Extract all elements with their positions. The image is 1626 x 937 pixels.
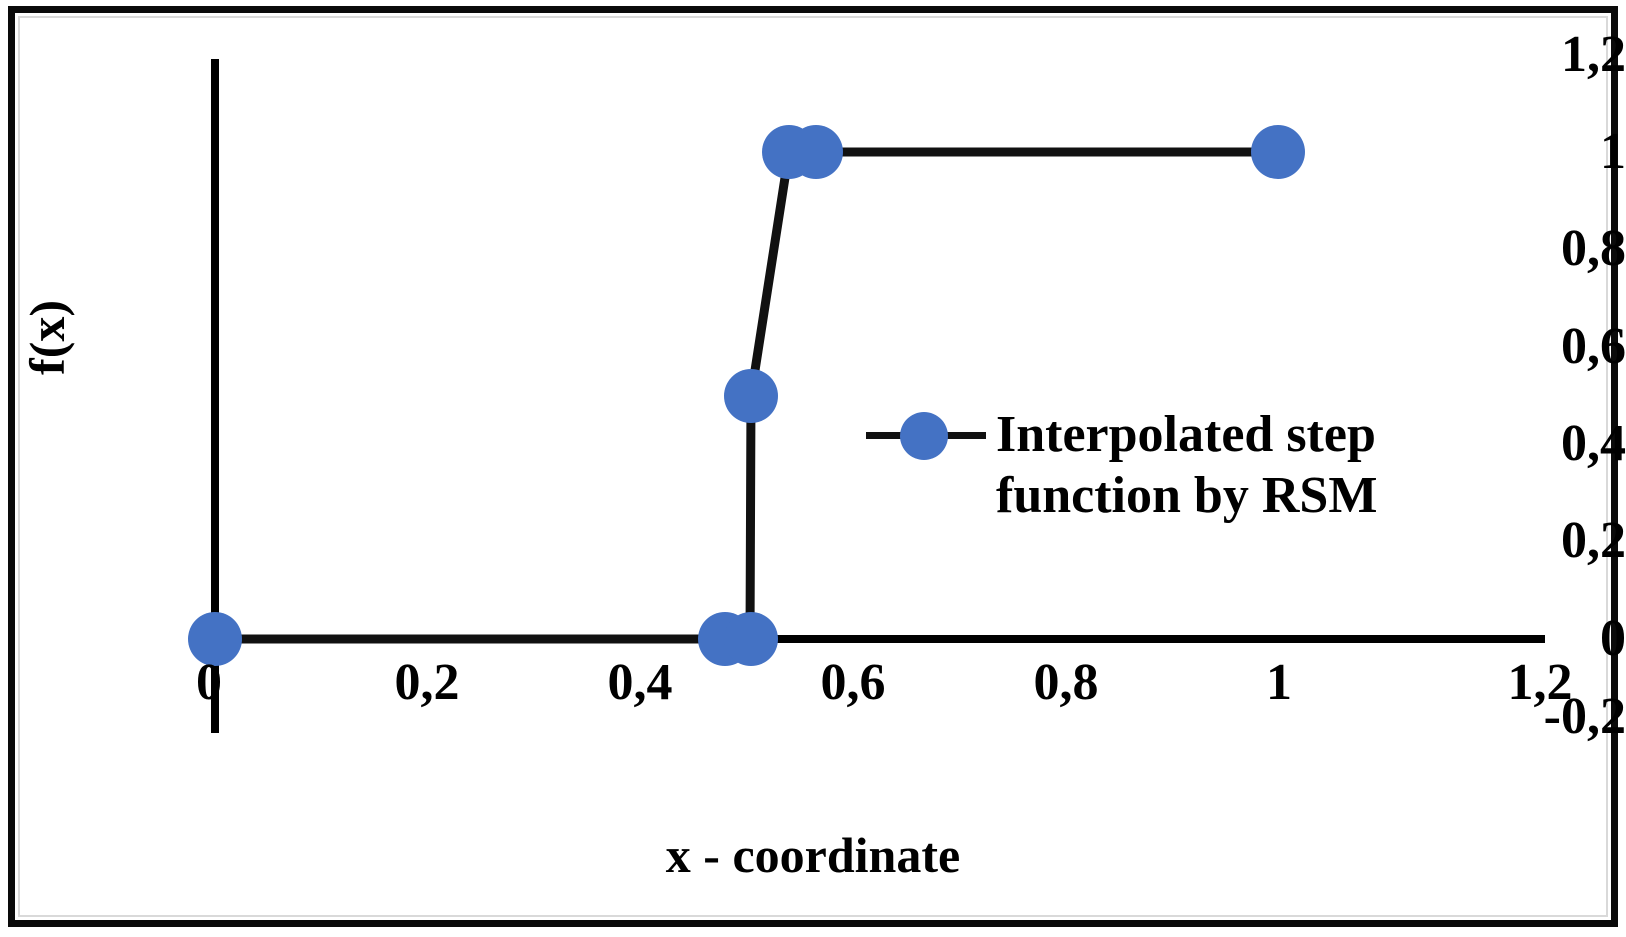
x-tick-label-0_8: 0,8 — [1034, 657, 1099, 709]
y-tick-label-1_2: 1,2 — [1426, 29, 1626, 81]
y-axis-title: f(x) — [18, 300, 76, 375]
y-tick-label-0_4: 0,4 — [1426, 418, 1626, 470]
x-axis-title: x - coordinate — [666, 826, 960, 884]
x-tick-label-0_4: 0,4 — [608, 657, 673, 709]
y-tick-label-0_2: 0,2 — [1426, 515, 1626, 567]
legend-key-marker — [866, 404, 986, 466]
chart-figure: 1,2 1 0,8 0,6 0,4 0,2 0 -0,2 0 0,2 0,4 0… — [0, 0, 1626, 937]
y-tick-label-0_8: 0,8 — [1426, 223, 1626, 275]
x-tick-label-1: 1 — [1266, 657, 1292, 709]
y-tick-label-0_6: 0,6 — [1426, 321, 1626, 373]
x-tick-label-0: 0 — [196, 657, 222, 709]
legend-label-line-2: function by RSM — [996, 465, 1377, 526]
legend-circle-icon — [900, 412, 948, 460]
x-tick-label-0_2: 0,2 — [395, 657, 460, 709]
y-tick-label-1: 1 — [1426, 126, 1626, 178]
legend-label: Interpolated step function by RSM — [996, 404, 1377, 527]
legend-label-line-1: Interpolated step — [996, 404, 1377, 465]
x-tick-label-0_6: 0,6 — [821, 657, 886, 709]
chart-legend: Interpolated step function by RSM — [866, 404, 1377, 527]
x-tick-label-1_2: 1,2 — [1508, 657, 1573, 709]
